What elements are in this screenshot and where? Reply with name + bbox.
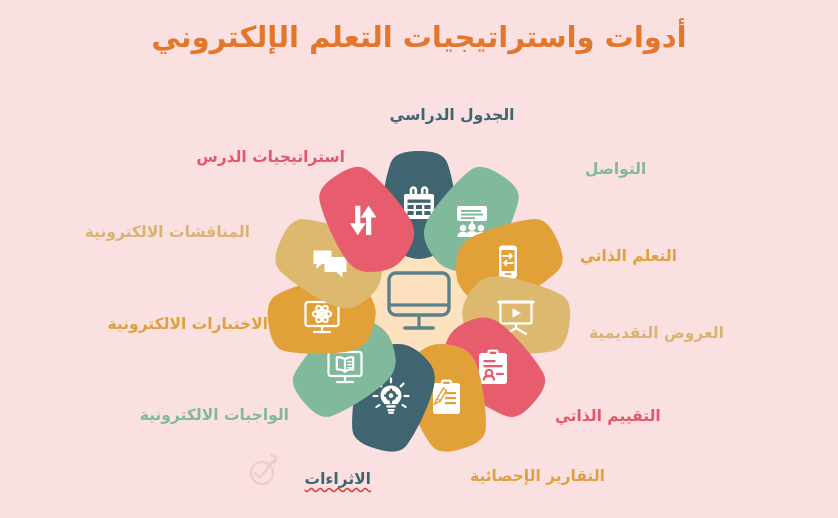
petal-label-8: الواجبات الالكترونية	[0, 406, 289, 424]
petal-label-text: التقارير الإحصائية	[470, 467, 605, 485]
petal-label-3: التعلم الذاتي	[580, 247, 677, 265]
petal-label-text: استراتيجيات الدرس	[196, 148, 345, 166]
petal-label-text: الاثراءات	[305, 470, 371, 488]
petal-label-11: استراتيجيات الدرس	[0, 148, 345, 166]
petal-label-4: العروض التقديمية	[589, 324, 724, 342]
petal-label-7: الاثراءات	[0, 470, 371, 488]
petal-label-5: التقييم الذاتي	[555, 407, 661, 425]
petal-label-text: التقييم الذاتي	[555, 407, 661, 425]
up-down-arrows-icon	[346, 201, 386, 241]
infographic-canvas: أدوات واستراتيجيات التعلم الإلكتروني	[0, 0, 838, 518]
desktop-monitor-icon	[383, 269, 455, 337]
petal-label-9: الاختبارات الالكترونية	[0, 315, 268, 333]
petal-label-text: الواجبات الالكترونية	[140, 406, 289, 424]
petal-label-text: الجدول الدراسي	[390, 106, 515, 124]
page-title: أدوات واستراتيجيات التعلم الإلكتروني	[0, 18, 838, 57]
petal-label-6: التقارير الإحصائية	[470, 467, 605, 485]
strategy-wheel	[249, 133, 589, 473]
petal-label-1: الجدول الدراسي	[0, 106, 838, 124]
petal-label-10: المناقشات الالكترونية	[0, 223, 250, 241]
petal-label-text: التعلم الذاتي	[580, 247, 677, 265]
petal-label-text: التواصل	[585, 160, 646, 178]
petal-label-text: الاختبارات الالكترونية	[107, 315, 268, 333]
petal-label-text: العروض التقديمية	[589, 324, 724, 342]
petal-label-2: التواصل	[585, 160, 646, 178]
petal-label-text: المناقشات الالكترونية	[85, 223, 250, 241]
